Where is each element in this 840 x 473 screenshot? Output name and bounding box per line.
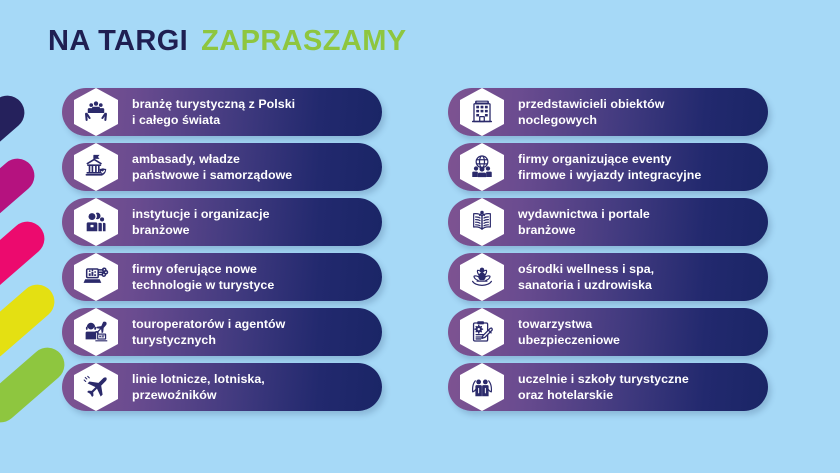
- audience-pill-label-line: branżowe: [518, 222, 650, 238]
- audience-pill-label-line: instytucje i organizacje: [132, 206, 270, 222]
- hands-holding-people-icon: [74, 88, 118, 136]
- decorative-bar-magenta: [0, 152, 41, 241]
- hotel-building-icon: [460, 88, 504, 136]
- audience-pill-label: uczelnie i szkoły turystyczneoraz hotela…: [518, 371, 689, 404]
- audience-pill-label-line: branżowe: [132, 222, 270, 238]
- audience-pill-label-line: oraz hotelarskie: [518, 387, 689, 403]
- audience-pill-label-line: sanatoria i uzdrowiska: [518, 277, 654, 293]
- audience-pill-label-line: technologie w turystyce: [132, 277, 274, 293]
- page-title: NA TARGI ZAPRASZAMY: [48, 27, 407, 56]
- audience-pill-label-line: uczelnie i szkoły turystyczne: [518, 371, 689, 387]
- audience-pill-label: ośrodki wellness i spa,sanatoria i uzdro…: [518, 261, 654, 294]
- audience-pill[interactable]: ośrodki wellness i spa,sanatoria i uzdro…: [448, 253, 768, 301]
- audience-pill-label-line: firmy oferujące nowe: [132, 261, 274, 277]
- audience-pill-label: branżę turystyczną z Polskii całego świa…: [132, 96, 295, 129]
- decorative-bar-yellow: [0, 278, 61, 367]
- slide-canvas: NA TARGI ZAPRASZAMY branżę turystyczną z…: [0, 0, 840, 473]
- globe-people-icon: [460, 143, 504, 191]
- airplane-icon: [74, 363, 118, 411]
- audience-pill-label-line: branżę turystyczną z Polski: [132, 96, 295, 112]
- audience-pill-label-line: ubezpieczeniowe: [518, 332, 620, 348]
- audience-pill[interactable]: touroperatorów i agentówturystycznych: [62, 308, 382, 356]
- people-group-icon: [74, 198, 118, 246]
- audience-pill-label-line: przedstawicieli obiektów: [518, 96, 664, 112]
- travel-agent-headset-icon: [74, 308, 118, 356]
- government-building-shield-icon: [74, 143, 118, 191]
- audience-pill-label-line: turystycznych: [132, 332, 285, 348]
- audience-pill-label: touroperatorów i agentówturystycznych: [132, 316, 285, 349]
- audience-pill[interactable]: towarzystwaubezpieczeniowe: [448, 308, 768, 356]
- audience-pill[interactable]: ambasady, władzepaństwowe i samorządowe: [62, 143, 382, 191]
- audience-pill-label-line: noclegowych: [518, 112, 664, 128]
- audience-pill[interactable]: branżę turystyczną z Polskii całego świa…: [62, 88, 382, 136]
- graduates-icon: [460, 363, 504, 411]
- audience-pill-label: towarzystwaubezpieczeniowe: [518, 316, 620, 349]
- audience-pill-label-line: przewoźników: [132, 387, 265, 403]
- audience-pill-label-line: touroperatorów i agentów: [132, 316, 285, 332]
- audience-pill-label: firmy organizujące eventyfirmowe i wyjaz…: [518, 151, 701, 184]
- audience-pill-label: linie lotnicze, lotniska,przewoźników: [132, 371, 265, 404]
- audience-pill-label-line: ośrodki wellness i spa,: [518, 261, 654, 277]
- audience-pill[interactable]: wydawnictwa i portalebranżowe: [448, 198, 768, 246]
- decorative-bar-navy: [0, 89, 31, 178]
- audience-pill[interactable]: przedstawicieli obiektównoclegowych: [448, 88, 768, 136]
- audience-pill-label: instytucje i organizacjebranżowe: [132, 206, 270, 239]
- audience-pill-label-line: wydawnictwa i portale: [518, 206, 650, 222]
- audience-pill-label-line: ambasady, władze: [132, 151, 292, 167]
- audience-pill-label-line: firmy organizujące eventy: [518, 151, 701, 167]
- decorative-bar-green: [0, 341, 71, 430]
- audience-pill-label: ambasady, władzepaństwowe i samorządowe: [132, 151, 292, 184]
- open-book-icon: [460, 198, 504, 246]
- audience-pill[interactable]: firmy oferujące nowetechnologie w turyst…: [62, 253, 382, 301]
- audience-pill-label: przedstawicieli obiektównoclegowych: [518, 96, 664, 129]
- audience-pill-label-line: linie lotnicze, lotniska,: [132, 371, 265, 387]
- audience-pill-label: wydawnictwa i portalebranżowe: [518, 206, 650, 239]
- audience-pill-label-line: państwowe i samorządowe: [132, 167, 292, 183]
- audience-list-right-column: przedstawicieli obiektównoclegowychfirmy…: [448, 88, 768, 411]
- decorative-bar-pink: [0, 215, 51, 304]
- audience-pill[interactable]: linie lotnicze, lotniska,przewoźników: [62, 363, 382, 411]
- audience-pill-label-line: i całego świata: [132, 112, 295, 128]
- audience-pill[interactable]: firmy organizujące eventyfirmowe i wyjaz…: [448, 143, 768, 191]
- spa-lotus-icon: [460, 253, 504, 301]
- laptop-technology-icon: [74, 253, 118, 301]
- audience-pill[interactable]: instytucje i organizacjebranżowe: [62, 198, 382, 246]
- title-part-dark: NA TARGI: [48, 27, 188, 56]
- audience-pill-label-line: towarzystwa: [518, 316, 620, 332]
- title-part-green: ZAPRASZAMY: [201, 27, 406, 56]
- audience-pill-label-line: firmowe i wyjazdy integracyjne: [518, 167, 701, 183]
- audience-list-left-column: branżę turystyczną z Polskii całego świa…: [62, 88, 382, 411]
- audience-pill[interactable]: uczelnie i szkoły turystyczneoraz hotela…: [448, 363, 768, 411]
- audience-pill-label: firmy oferujące nowetechnologie w turyst…: [132, 261, 274, 294]
- clipboard-gear-pen-icon: [460, 308, 504, 356]
